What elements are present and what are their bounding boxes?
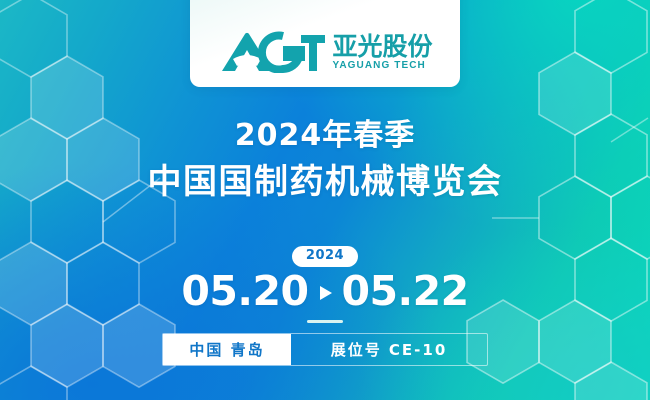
title-line-2: 中国国制药机械博览会 [0,162,650,202]
location-label: 中国 青岛 [163,334,291,365]
date-range: 05.20 05.22 [181,271,468,312]
date-block: 2024 05.20 05.22 [0,246,650,323]
title-line-1: 2024年春季 [0,118,650,153]
logo-wordmark: 亚光股份 YAGUANG TECH [332,34,432,71]
date-end: 05.22 [342,271,469,312]
booth-label: 展位号 CE-10 [291,334,487,365]
play-arrow-icon [318,284,333,302]
exhibition-banner: 亚光股份 YAGUANG TECH 2024年春季 中国国制药机械博览会 202… [0,0,650,400]
date-divider [307,320,343,323]
title-block: 2024年春季 中国国制药机械博览会 [0,118,650,203]
logo-row: 亚光股份 YAGUANG TECH [217,31,432,73]
logo-english-name: YAGUANG TECH [332,61,432,71]
agt-triangle-logo-icon [217,31,325,73]
logo-chinese-name: 亚光股份 [332,34,432,59]
logo-card: 亚光股份 YAGUANG TECH [190,0,460,87]
year-badge: 2024 [292,246,358,267]
info-bar: 中国 青岛 展位号 CE-10 [162,333,488,366]
date-start: 05.20 [181,271,308,312]
